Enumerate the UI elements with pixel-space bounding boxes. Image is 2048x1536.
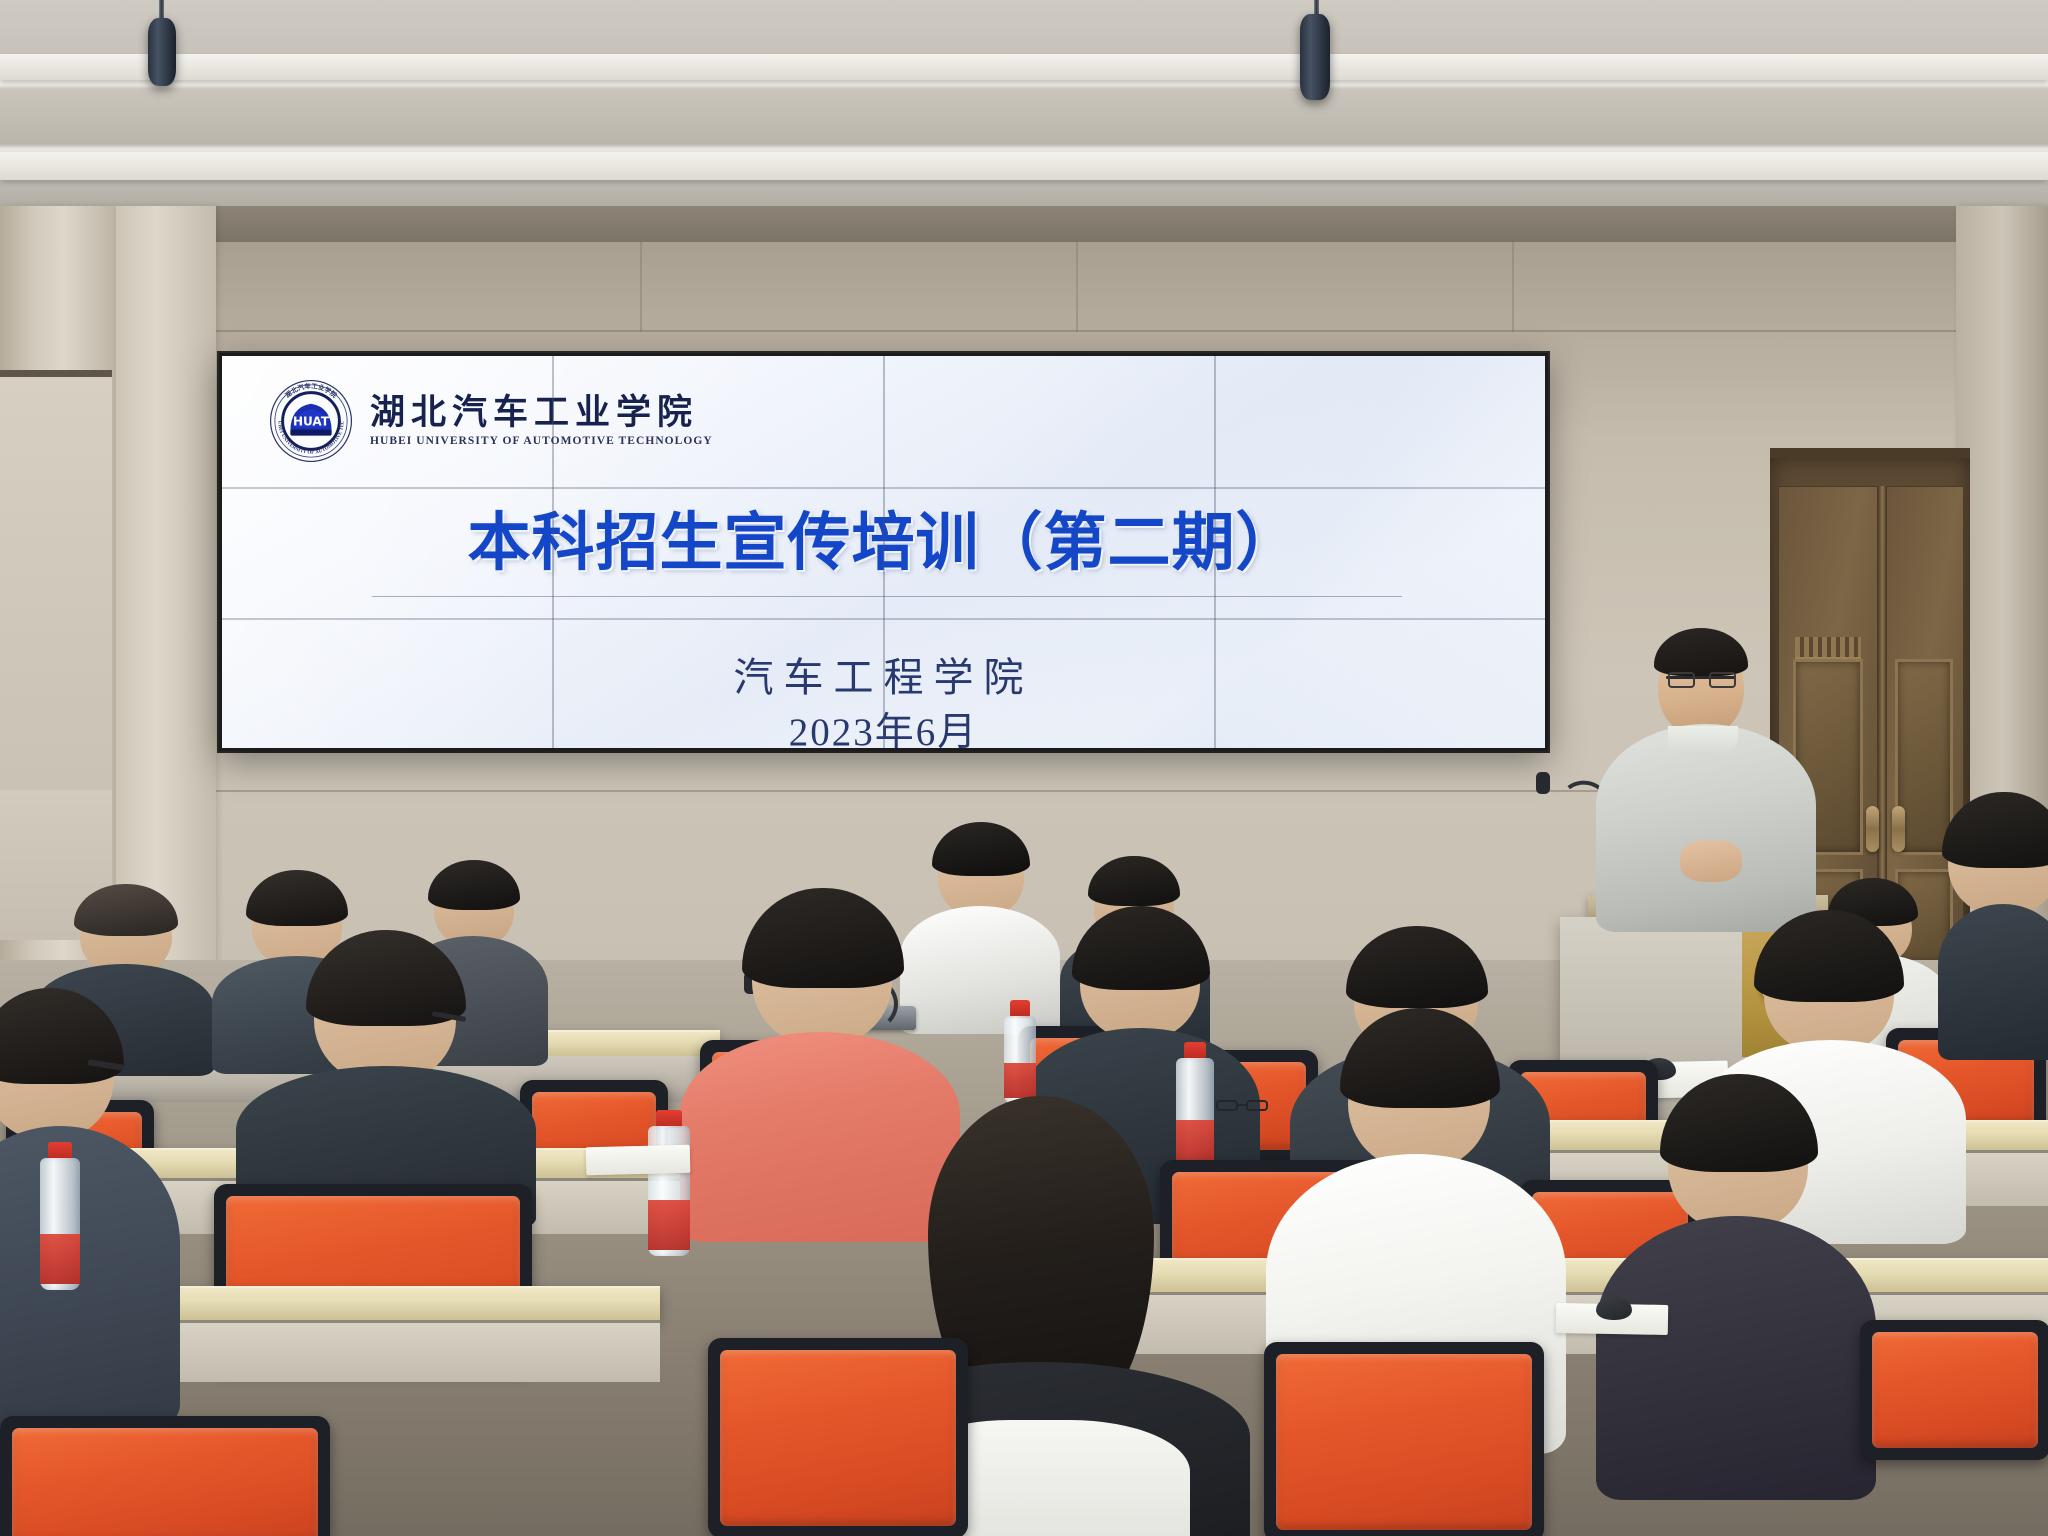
door-handle-icon[interactable] [1892,806,1905,852]
attendee-hair [1340,1008,1500,1108]
mouse[interactable] [1596,1296,1632,1320]
presenter-hands [1680,840,1742,882]
water-bottle[interactable] [40,1142,80,1290]
university-name-block: 湖北汽车工业学院 HUBEI UNIVERSITY OF AUTOMOTIVE … [370,395,713,447]
attendee-hair [0,988,124,1084]
wall-seam [216,330,1972,332]
wall-upper-band [0,206,2048,242]
huat-shield-emblem-icon: HUAT 湖北汽车工业学院 HUBEI UNIVERSITY OF AUTOMO… [268,378,354,464]
attendee-torso [0,1126,180,1426]
slide-divider-rule [372,596,1402,597]
university-name-en: HUBEI UNIVERSITY OF AUTOMOTIVE TECHNOLOG… [370,435,713,447]
video-wall-seam [1214,356,1216,748]
video-wall-seam [552,356,554,748]
video-wall-seam [222,618,1545,620]
attendee [236,940,536,1220]
attendee-hair [74,884,178,936]
chair-seat-back [12,1428,318,1536]
door-handle-icon[interactable] [1866,806,1879,852]
wall-panel [0,370,112,790]
attendee-hair [1942,792,2048,868]
presenter-collar [1668,726,1738,756]
chair-seat-back [1276,1354,1532,1530]
ceiling-beam [0,152,2048,180]
attendee-hair [428,860,520,910]
presenter [1596,632,1816,932]
podium-microphone-head-icon [1536,772,1550,794]
notepad [586,1145,691,1176]
wall-pilaster [116,206,216,966]
video-wall-seam [883,356,885,748]
presentation-room-photo: HUAT 湖北汽车工业学院 HUBEI UNIVERSITY OF AUTOMO… [0,0,2048,1536]
attendee-hair [1754,910,1904,1002]
bottle-label [1004,1063,1036,1098]
attendee-front-left [0,1000,180,1420]
chair-seat-back [1872,1332,2038,1448]
chair[interactable] [1264,1342,1544,1536]
university-name-zh: 湖北汽车工业学院 [370,395,713,430]
video-wall-display[interactable]: HUAT 湖北汽车工业学院 HUBEI UNIVERSITY OF AUTOMO… [219,353,1548,751]
attendee-hair [742,888,904,988]
ceiling [0,0,2048,212]
ceiling-speaker-icon [1300,14,1330,100]
attendee-hair [1088,856,1180,906]
slide-screen: HUAT 湖北汽车工业学院 HUBEI UNIVERSITY OF AUTOMO… [222,356,1545,748]
attendee [1938,800,2048,1050]
attendee-torso [1596,1216,1876,1500]
attendee-hair [1346,926,1488,1008]
presenter-glasses-icon [1709,672,1736,688]
ceiling-speaker-icon [148,18,176,86]
attendee-torso [1938,904,2048,1060]
attendee-hair [1072,906,1210,990]
presenter-hair [1654,628,1748,676]
attendee-hair [306,930,466,1026]
video-wall-seam [222,487,1545,489]
university-logo-lockup: HUAT 湖北汽车工业学院 HUBEI UNIVERSITY OF AUTOMO… [268,378,713,464]
wall-seam [640,242,642,332]
bottle-label [40,1234,80,1284]
water-bottle[interactable] [648,1110,690,1256]
water-bottle[interactable] [1004,1000,1036,1104]
presenter-glasses-icon [1668,672,1695,688]
wall-seam [1512,242,1514,332]
chair-seat-back [720,1350,956,1526]
wall-seam [1076,242,1078,332]
attendee-hair [246,870,348,926]
attendee-hair [932,822,1030,876]
ceiling-beam [0,54,2048,80]
chair[interactable] [708,1338,968,1536]
svg-text:HUAT: HUAT [293,414,330,428]
attendee-front-far-right [1596,1086,1876,1486]
chair[interactable] [0,1416,330,1536]
chair[interactable] [1860,1320,2048,1460]
bottle-label [648,1200,690,1250]
svg-text:湖北汽车工业学院: 湖北汽车工业学院 [283,381,339,400]
attendee-hair [1660,1074,1818,1172]
